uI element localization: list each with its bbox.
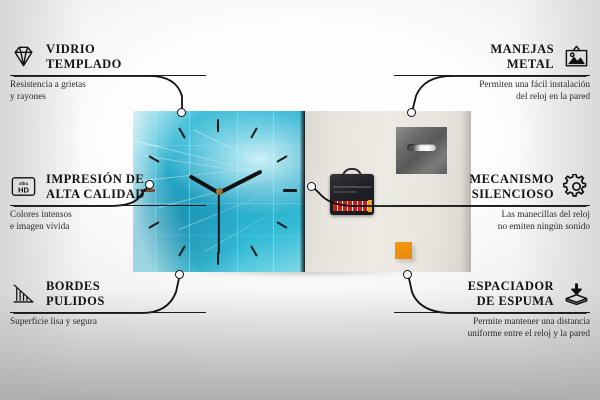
feature-title: MANEJAS METAL [490, 42, 554, 71]
feature-vidrio-templado: VIDRIO TEMPLADO Resistencia a grietas y … [10, 42, 206, 103]
feature-impresion-alta-calidad: ultra HD IMPRESIÓN DE ALTA CALIDAD Color… [10, 172, 206, 233]
node-manejas [407, 108, 416, 117]
wall-hanger-icon [563, 44, 590, 69]
feature-espaciador-de-espuma: ESPACIADOR DE ESPUMA Permite mantener un… [394, 279, 590, 340]
feature-title: IMPRESIÓN DE ALTA CALIDAD [46, 172, 145, 201]
feature-description: Resistencia a grietas y rayones [10, 80, 206, 103]
feature-manejas-metal: MANEJAS METAL Permiten una fácil instala… [394, 42, 590, 103]
node-mecanismo [307, 182, 316, 191]
feature-title: MECANISMO SILENCIOSO [469, 172, 554, 201]
feature-title: BORDES PULIDOS [46, 279, 105, 308]
node-espaciador [403, 270, 412, 279]
node-bordes [175, 270, 184, 279]
node-vidrio [177, 108, 186, 117]
feature-description: Permiten una fácil instalación del reloj… [394, 80, 590, 103]
feature-mecanismo-silencioso: MECANISMO SILENCIOSO Las manecillas del … [394, 172, 590, 233]
feature-description: Las manecillas del reloj no emiten ningú… [394, 210, 590, 233]
ultra-hd-icon: ultra HD [10, 174, 37, 199]
diamond-icon [10, 44, 37, 69]
feature-rule [394, 205, 590, 206]
gear-icon [563, 174, 590, 199]
polished-edge-icon [10, 281, 37, 306]
feature-rule [394, 312, 590, 313]
svg-text:HD: HD [18, 185, 29, 194]
feature-description: Permite mantener una distancia uniforme … [394, 317, 590, 340]
feature-description: Superficie lisa y segura [10, 317, 206, 328]
feature-rule [10, 75, 206, 76]
feature-title: VIDRIO TEMPLADO [46, 42, 122, 71]
node-impresion [145, 180, 154, 189]
feature-title: ESPACIADOR DE ESPUMA [468, 279, 554, 308]
feature-bordes-pulidos: BORDES PULIDOS Superficie lisa y segura [10, 279, 206, 329]
feature-rule [10, 205, 206, 206]
feature-description: Colores intensos e imagen vívida [10, 210, 206, 233]
feature-rule [394, 75, 590, 76]
foam-spacer-icon [563, 281, 590, 306]
infographic-canvas: VIDRIO TEMPLADO Resistencia a grietas y … [0, 0, 600, 400]
feature-rule [10, 312, 206, 313]
